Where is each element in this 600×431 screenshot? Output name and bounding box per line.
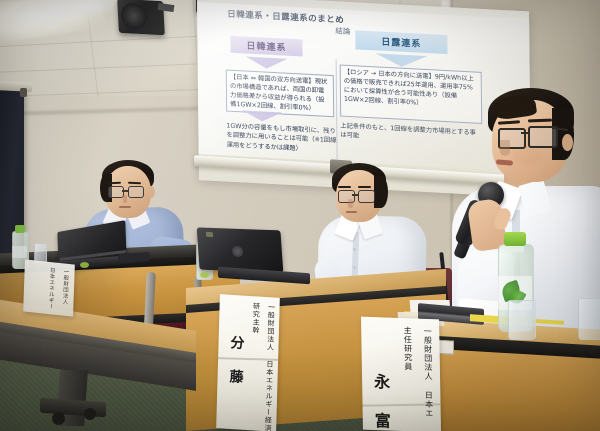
eyebrow [338,186,351,188]
nose [500,140,510,156]
bottle-cap[interactable] [15,225,25,233]
slide-title: 日韓連系・日露連系のまとめ [227,8,344,26]
bottle-cap[interactable] [504,232,526,246]
glasses-bridge [521,132,530,134]
slide-banner-russia: 日露連系 [355,30,447,54]
laptop-camera-icon [206,232,213,238]
cheek-shading [512,148,542,164]
slide-divider [336,59,338,159]
name-placard: 一般財団法人 日本エネルギー経済研究所 研究主幹 分 藤 [216,294,280,431]
eyebrow [358,186,371,188]
slide-box-russia: 【ロシア → 日本の方向に送電】9円/kWh以上の価格で販売できれば25年運用、… [340,64,483,123]
down-arrow-icon [242,110,282,122]
nose [123,195,127,203]
slide-note-korea: 1GW分の容量をもし市場取引に、残りを調整力に用いることは可能（※1回線運用をど… [226,122,338,156]
placard-name-text: 分 藤 [225,335,246,386]
name-placard: 一般財団法人 日本エネルギー [23,259,75,316]
bottle-label [12,246,27,258]
glasses-bridge [122,190,128,192]
nose [348,199,353,208]
wall-board-header [0,81,32,92]
desk-item [80,262,89,268]
slide-note-russia: 上記条件のもと、1回線を調整力市場用とする事は可能 [340,122,480,148]
shirt-button [353,248,356,251]
glasses-icon [108,186,124,198]
panelist-center-hair [374,176,388,208]
down-arrow-icon [246,57,288,70]
slide-subtitle: 結論 [335,25,350,37]
laptop-logo-icon [232,245,243,257]
glasses-icon [128,186,144,198]
drinking-glass[interactable] [508,300,536,340]
caster-wheel-icon [52,412,65,425]
glasses-icon [358,190,375,203]
seminar-room-photo: 日韓連系・日露連系のまとめ 結論 日韓連系 日露連系 【日本 ⇔ 韓国の双方向送… [0,0,600,431]
slide-banner-korea: 日韓連系 [230,36,302,57]
desk-item [200,272,209,278]
placard-org-text: 一般財団法人 日本エネルギー経済研究所 [263,303,275,431]
drinking-glass[interactable] [578,298,600,340]
shirt-button [353,266,356,269]
name-placard: 一般財団法人 日本エ 主任研究員 永 富 [361,317,441,431]
placard-org-text: 一般財団法人 [61,268,69,305]
mouth [346,211,357,213]
caster-wheel-icon [84,408,96,420]
projected-slide: 日韓連系・日露連系のまとめ 結論 日韓連系 日露連系 【日本 ⇔ 韓国の双方向送… [197,2,531,172]
mouth [119,206,131,208]
placard-name-text: 日本エネルギー [47,267,55,310]
speaker-right-ear [562,134,573,151]
panelist-left-ear [147,186,155,198]
placard-title-text: 主任研究員 [402,326,412,371]
wall-board-knob [20,88,27,97]
placard-name-text: 永 富 [368,373,393,431]
glasses-bridge [352,194,359,196]
placard-title-text: 研究主幹 [251,302,260,334]
